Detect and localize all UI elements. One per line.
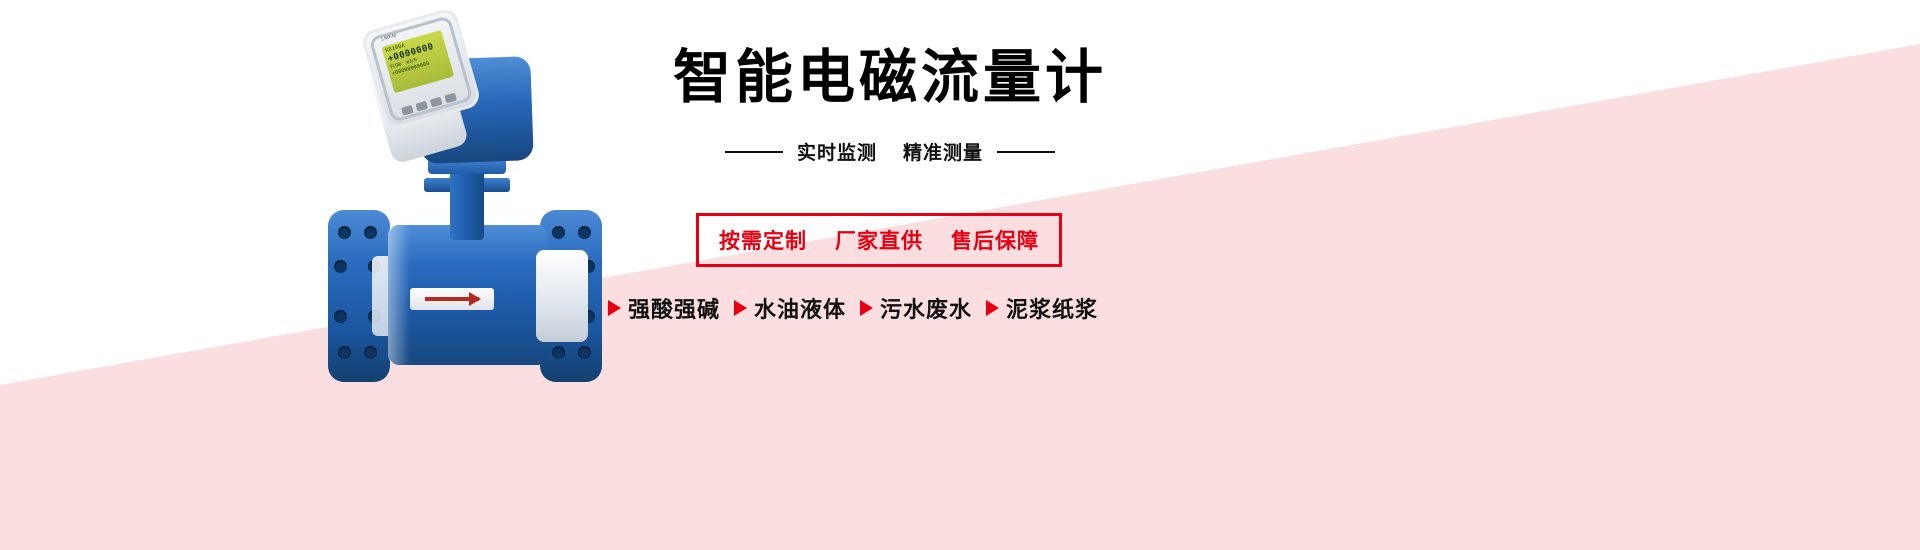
triangle-right-icon [986, 300, 999, 316]
subtitle-rule-right [997, 151, 1055, 153]
badge-item-2: 售后保障 [951, 225, 1039, 255]
banner-subtitle: 实时监测 精准测量 [660, 138, 1120, 165]
product-image-flowmeter: LMFM KD100A +0000000 FLOW m3/h +00000000… [300, 10, 630, 410]
product-banner: LMFM KD100A +0000000 FLOW m3/h +00000000… [0, 0, 1920, 550]
meter-neck [450, 170, 484, 240]
feature-label-0: 强酸强碱 [628, 292, 720, 324]
feature-item-2: 污水废水 [860, 292, 972, 324]
feature-list: 强酸强碱 水油液体 污水废水 泥浆纸浆 [608, 292, 1228, 324]
badge-item-1: 厂家直供 [835, 225, 923, 255]
subtitle-text: 实时监测 精准测量 [797, 138, 983, 165]
banner-text-block: 智能电磁流量计 实时监测 精准测量 按需定制 厂家直供 售后保障 强酸强碱 水油… [660, 0, 1360, 550]
badge-item-0: 按需定制 [719, 225, 807, 255]
feature-label-3: 泥浆纸浆 [1006, 292, 1098, 324]
flow-direction-arrow-icon [410, 288, 494, 310]
subtitle-item-1: 精准测量 [903, 138, 983, 165]
feature-item-3: 泥浆纸浆 [986, 292, 1098, 324]
banner-title: 智能电磁流量计 [660, 48, 1120, 106]
subtitle-rule-left [725, 151, 783, 153]
subtitle-item-0: 实时监测 [797, 138, 877, 165]
feature-item-0: 强酸强碱 [608, 292, 720, 324]
pipe-liner-right [536, 250, 588, 342]
service-badge-box: 按需定制 厂家直供 售后保障 [696, 213, 1062, 267]
triangle-right-icon [608, 300, 621, 316]
triangle-right-icon [734, 300, 747, 316]
feature-label-1: 水油液体 [754, 292, 846, 324]
feature-label-2: 污水废水 [880, 292, 972, 324]
triangle-right-icon [860, 300, 873, 316]
feature-item-1: 水油液体 [734, 292, 846, 324]
